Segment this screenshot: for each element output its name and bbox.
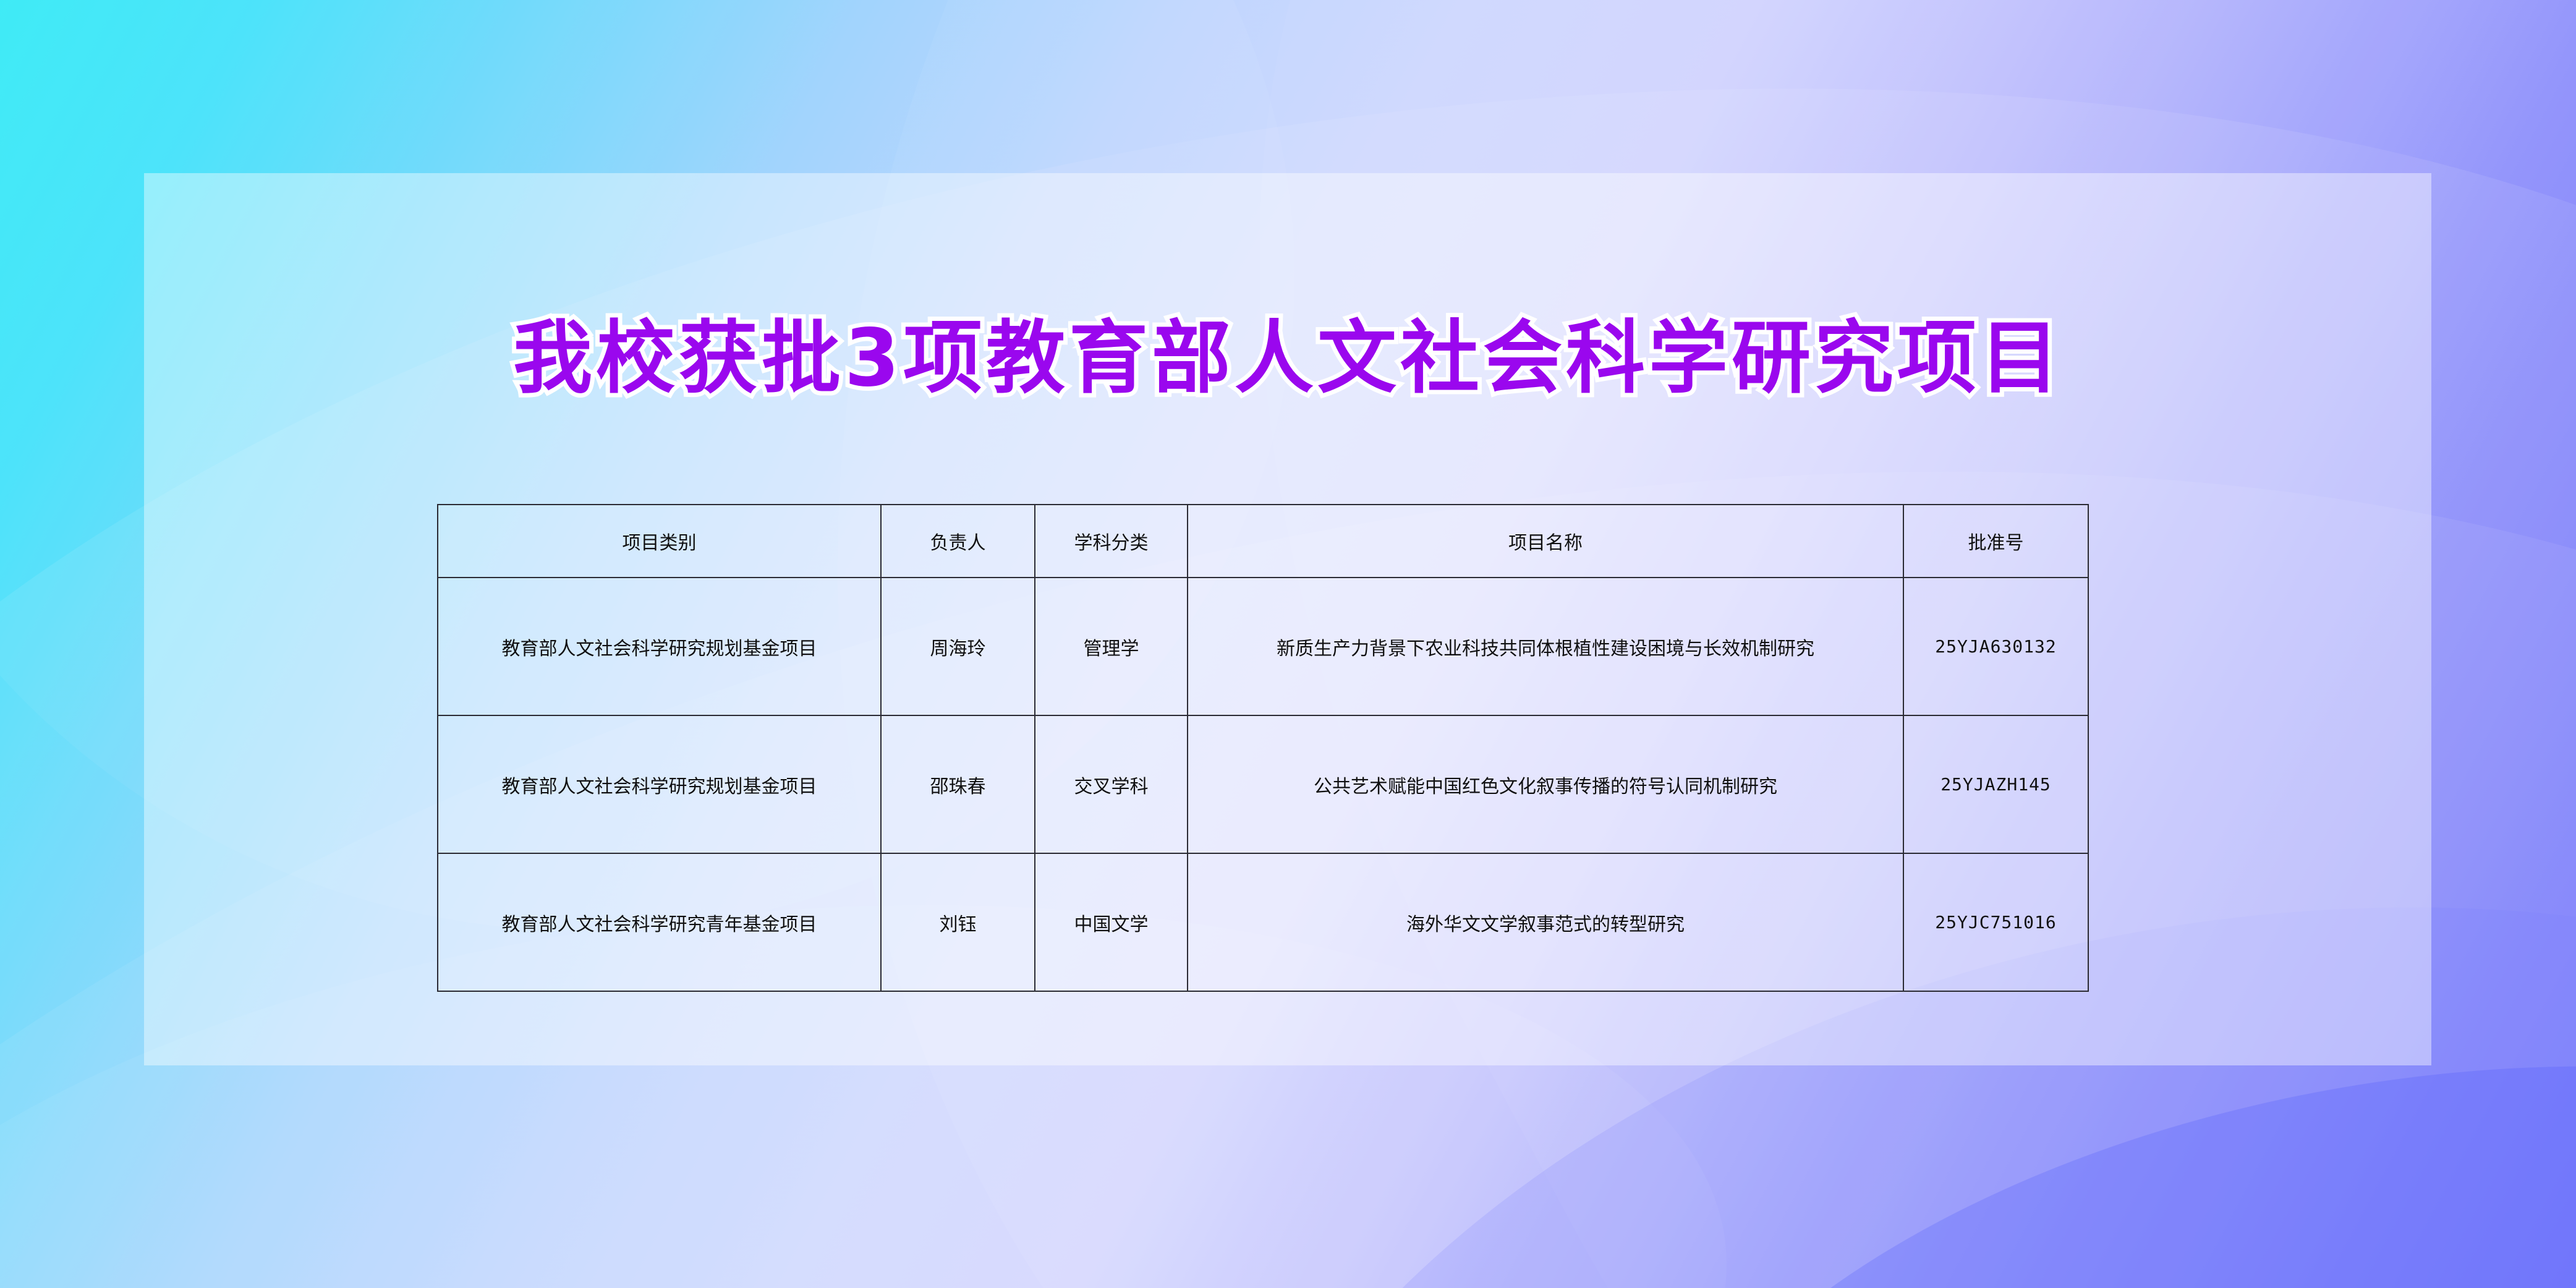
projects-table: 项目类别 负责人 学科分类 项目名称 批准号 教育部人文社会科学研究规划基金项目… (437, 504, 2089, 992)
cell-leader: 刘钰 (881, 853, 1035, 991)
table-header-row: 项目类别 负责人 学科分类 项目名称 批准号 (438, 505, 2088, 578)
cell-category: 教育部人文社会科学研究青年基金项目 (438, 853, 881, 991)
cell-discipline: 交叉学科 (1035, 715, 1188, 853)
cell-approval-number: 25YJA630132 (1903, 578, 2088, 715)
cell-leader: 邵珠春 (881, 715, 1035, 853)
column-header-project-name: 项目名称 (1188, 505, 1903, 578)
cell-project-name: 公共艺术赋能中国红色文化叙事传播的符号认同机制研究 (1188, 715, 1903, 853)
cell-category: 教育部人文社会科学研究规划基金项目 (438, 578, 881, 715)
table-body: 教育部人文社会科学研究规划基金项目 周海玲 管理学 新质生产力背景下农业科技共同… (438, 578, 2088, 991)
cell-discipline: 管理学 (1035, 578, 1188, 715)
cell-project-name: 新质生产力背景下农业科技共同体根植性建设困境与长效机制研究 (1188, 578, 1903, 715)
cell-category: 教育部人文社会科学研究规划基金项目 (438, 715, 881, 853)
column-header-leader: 负责人 (881, 505, 1035, 578)
table-row: 教育部人文社会科学研究规划基金项目 周海玲 管理学 新质生产力背景下农业科技共同… (438, 578, 2088, 715)
cell-discipline: 中国文学 (1035, 853, 1188, 991)
table-row: 教育部人文社会科学研究青年基金项目 刘钰 中国文学 海外华文文学叙事范式的转型研… (438, 853, 2088, 991)
page-title: 我校获批3项教育部人文社会科学研究项目 (0, 309, 2576, 408)
cell-leader: 周海玲 (881, 578, 1035, 715)
table-header: 项目类别 负责人 学科分类 项目名称 批准号 (438, 505, 2088, 578)
column-header-category: 项目类别 (438, 505, 881, 578)
cell-approval-number: 25YJAZH145 (1903, 715, 2088, 853)
projects-table-container: 项目类别 负责人 学科分类 项目名称 批准号 教育部人文社会科学研究规划基金项目… (437, 504, 2088, 992)
column-header-approval-number: 批准号 (1903, 505, 2088, 578)
column-header-discipline: 学科分类 (1035, 505, 1188, 578)
cell-project-name: 海外华文文学叙事范式的转型研究 (1188, 853, 1903, 991)
cell-approval-number: 25YJC751016 (1903, 853, 2088, 991)
table-row: 教育部人文社会科学研究规划基金项目 邵珠春 交叉学科 公共艺术赋能中国红色文化叙… (438, 715, 2088, 853)
